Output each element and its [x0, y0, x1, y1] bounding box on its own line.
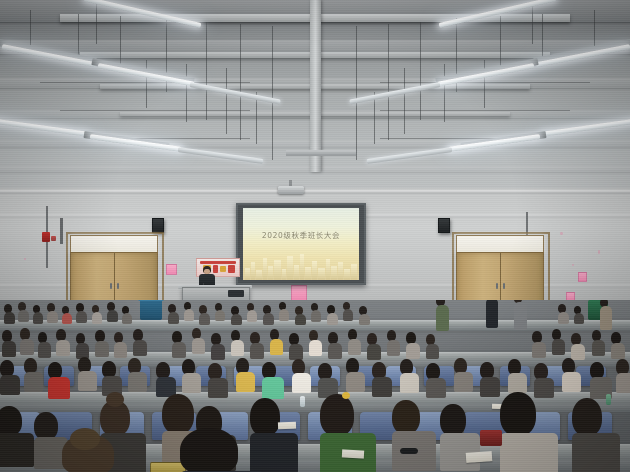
right-wall-speaker: [438, 218, 450, 233]
hair-bun: [106, 392, 124, 407]
pink-sign-left: [166, 264, 177, 275]
lecture-hall-photo: 2020级秋季班长大会: [0, 0, 630, 472]
projection-screen-surface: 2020级秋季班长大会: [243, 208, 359, 280]
ceiling: [0, 0, 630, 196]
ceiling-projector: [278, 186, 304, 194]
paper-sheet: [342, 449, 364, 458]
notebook: [466, 451, 493, 463]
glasses: [400, 448, 418, 454]
hair-tie: [342, 392, 350, 399]
hair-bun: [70, 428, 100, 450]
pink-sign-right: [578, 272, 587, 282]
audience-seating: [0, 300, 630, 472]
ceiling-duct: [310, 0, 321, 172]
slide-title: 2020级秋季班长大会: [243, 230, 359, 241]
paper-sheet: [278, 422, 296, 430]
right-door-transom: [456, 235, 544, 253]
water-bottle: [606, 394, 611, 405]
slide-skyline-graphic: [243, 246, 359, 280]
trash-bin-left: [140, 300, 162, 320]
podium-equipment: [228, 290, 244, 297]
fire-extinguisher-icon: [42, 232, 50, 242]
left-door-transom: [70, 235, 158, 253]
red-cup: [480, 430, 502, 446]
water-bottle: [300, 396, 305, 407]
pink-sign-front: [291, 285, 307, 301]
projection-screen[interactable]: 2020级秋季班长大会: [236, 203, 366, 285]
left-wall-speaker: [152, 218, 164, 233]
